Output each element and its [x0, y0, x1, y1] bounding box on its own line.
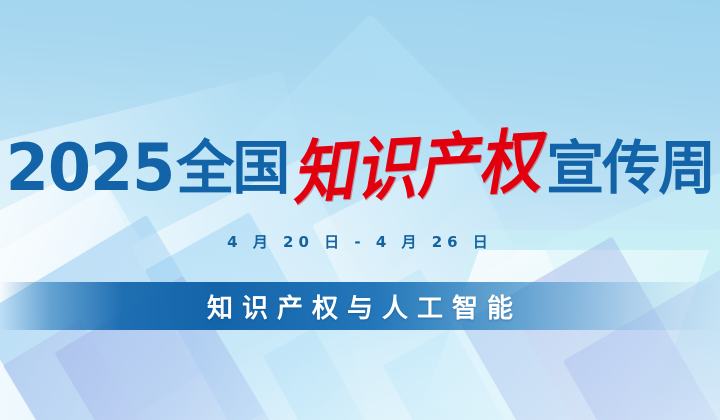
headline-year: 2025	[6, 135, 175, 200]
poster-headline: 2025 全国 知识产权 宣传周	[0, 128, 720, 208]
ip-week-poster: 2025 全国 知识产权 宣传周 4 月 20 日 - 4 月 26 日 知识产…	[0, 0, 720, 420]
background-slab	[3, 319, 168, 420]
poster-theme-text: 知识产权与人工智能	[0, 288, 720, 325]
headline-national: 全国	[176, 139, 288, 197]
background-wash-mid-right	[421, 250, 709, 410]
headline-highlight: 知识产权	[291, 127, 542, 209]
headline-suffix: 宣传周	[546, 139, 714, 197]
poster-theme-banner: 知识产权与人工智能	[0, 282, 720, 330]
poster-date-range: 4 月 20 日 - 4 月 26 日	[0, 231, 720, 252]
